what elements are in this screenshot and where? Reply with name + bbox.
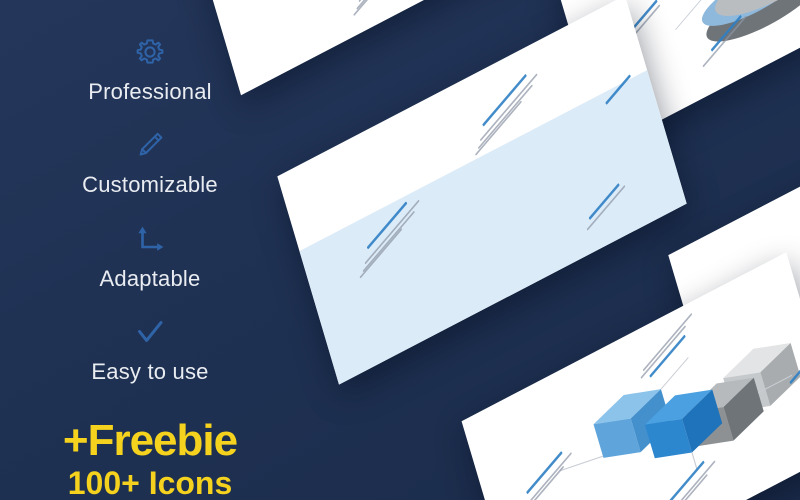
slide-center [277, 0, 686, 385]
freebie-promo: +Freebie 100+ Icons [63, 418, 237, 500]
pencil-icon [128, 123, 172, 167]
promo-graphic: Professional Customizable [0, 0, 800, 500]
feature-label: Adaptable [100, 265, 201, 293]
resize-arrows-icon [128, 217, 172, 261]
feature-label: Professional [88, 78, 211, 106]
feature-item-easy-to-use: Easy to use [91, 310, 208, 386]
gear-icon [128, 30, 172, 74]
freebie-subline: 100+ Icons [63, 466, 237, 500]
freebie-headline: +Freebie [63, 418, 237, 464]
feature-item-professional: Professional [88, 30, 211, 106]
feature-list: Professional Customizable [0, 0, 300, 500]
feature-label: Easy to use [91, 358, 208, 386]
feature-item-adaptable: Adaptable [100, 217, 201, 293]
feature-label: Customizable [82, 171, 218, 199]
feature-item-customizable: Customizable [82, 123, 218, 199]
checkmark-icon [128, 310, 172, 354]
slide-center-content [277, 0, 686, 385]
